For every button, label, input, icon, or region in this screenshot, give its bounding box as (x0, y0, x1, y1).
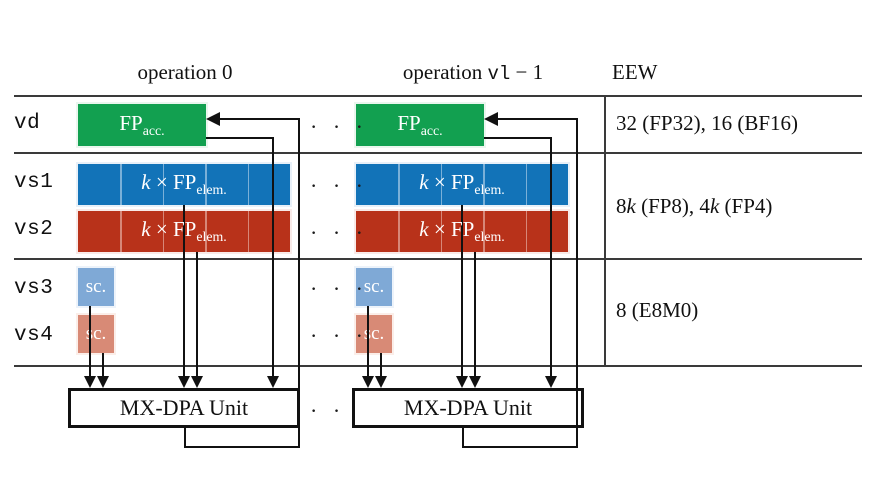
accumulator-box-oplast[interactable]: FPacc. (356, 104, 484, 146)
vs1-op0-label: k × FPelem. (141, 170, 226, 198)
vs1-op0-sep-4 (248, 164, 250, 205)
row-label-vs2: vs2 (14, 219, 53, 240)
scale-box-vs4-op0[interactable]: sc. (78, 315, 114, 353)
arrowhead-feedback-oplast (484, 112, 498, 126)
accumulator-label-oplast: FPacc. (397, 111, 442, 139)
wire-acc-op0-out-v (272, 137, 274, 382)
vs2-oplast-sep-1 (398, 211, 400, 252)
mx-dpa-unit-op0[interactable]: MX-DPA Unit (68, 388, 300, 428)
ellipsis-vs1: · · · (310, 175, 368, 197)
row-label-vd: vd (14, 113, 40, 134)
figure-canvas: operation 0 operation vl − 1 EEW vd vs1 … (0, 0, 876, 493)
arrowhead-vs4-oplast (375, 376, 387, 388)
wire-vs3-oplast-down (367, 306, 369, 382)
arrowhead-vs2-op0 (191, 376, 203, 388)
arrowhead-vs2-oplast (469, 376, 481, 388)
table-rule-bottom (14, 365, 862, 367)
vector-register-vs1-op0[interactable]: k × FPelem. (78, 164, 290, 205)
eew-value-vs12: 8k (FP8), 4k (FP4) (616, 196, 772, 217)
wire-vs2-op0-down (196, 252, 198, 382)
row-label-vs1: vs1 (14, 172, 53, 193)
vs1-op0-sep-1 (120, 164, 122, 205)
vs2-op0-label: k × FPelem. (141, 217, 226, 245)
arrowhead-vs3-op0 (84, 376, 96, 388)
wire-vs2-oplast-down (474, 252, 476, 382)
wire-dpa-op0-feedback-left (218, 118, 300, 120)
arrowhead-vs1-op0 (178, 376, 190, 388)
arrowhead-vs3-oplast (362, 376, 374, 388)
scale-box-vs3-op0[interactable]: sc. (78, 268, 114, 306)
column-header-operation-0: operation 0 (60, 62, 310, 83)
wire-acc-op0-out-h (206, 137, 274, 139)
vs2-oplast-label: k × FPelem. (419, 217, 504, 245)
vector-register-vs1-oplast[interactable]: k × FPelem. (356, 164, 568, 205)
wire-vs3-op0-down (89, 306, 91, 382)
eew-vs12-p1: 8 (616, 194, 627, 218)
row-label-vs3: vs3 (14, 278, 53, 299)
ellipsis-vs4: · · · (310, 325, 368, 347)
eew-column-divider (604, 95, 606, 365)
mx-dpa-unit-oplast[interactable]: MX-DPA Unit (352, 388, 584, 428)
ellipsis-vd: · · · (310, 116, 368, 138)
vs1-oplast-sep-4 (526, 164, 528, 205)
wire-dpa-oplast-feedback-up (576, 118, 578, 446)
wire-dpa-oplast-out-right (462, 446, 578, 448)
table-rule-vs12 (14, 258, 862, 260)
vs2-oplast-sep-4 (526, 211, 528, 252)
eew-vs12-p3: (FP4) (719, 194, 772, 218)
operation-last-suffix: − 1 (510, 60, 543, 84)
eew-vs12-k1: k (627, 194, 636, 218)
accumulator-label-op0: FPacc. (119, 111, 164, 139)
eew-vs12-p2: (FP8), 4 (636, 194, 710, 218)
operation-last-mono: vl (487, 63, 510, 85)
accumulator-box-op0[interactable]: FPacc. (78, 104, 206, 146)
eew-value-vs34: 8 (E8M0) (616, 300, 698, 321)
wire-acc-oplast-out-h (484, 137, 552, 139)
wire-dpa-op0-out-right (184, 446, 300, 448)
eew-vs12-k2: k (710, 194, 719, 218)
column-header-eew: EEW (612, 62, 792, 83)
ellipsis-vs2: · · · (310, 222, 368, 244)
wire-dpa-op0-out-down (184, 428, 186, 448)
column-header-operation-last: operation vl − 1 (348, 62, 598, 84)
arrowhead-feedback-op0 (206, 112, 220, 126)
wire-dpa-oplast-feedback-left (496, 118, 578, 120)
wire-acc-oplast-out-v (550, 137, 552, 382)
vs2-op0-sep-1 (120, 211, 122, 252)
vs2-op0-sep-4 (248, 211, 250, 252)
table-rule-vd (14, 152, 862, 154)
row-label-vs4: vs4 (14, 325, 53, 346)
operation-last-prefix: operation (403, 60, 488, 84)
arrowhead-acc-op0 (267, 376, 279, 388)
vs1-oplast-sep-1 (398, 164, 400, 205)
ellipsis-vs3: · · · (310, 278, 368, 300)
arrowhead-acc-oplast (545, 376, 557, 388)
eew-value-vd: 32 (FP32), 16 (BF16) (616, 113, 798, 134)
wire-dpa-oplast-out-down (462, 428, 464, 448)
arrowhead-vs1-oplast (456, 376, 468, 388)
wire-dpa-op0-feedback-up (298, 118, 300, 446)
table-rule-top (14, 95, 862, 97)
arrowhead-vs4-op0 (97, 376, 109, 388)
vs1-oplast-label: k × FPelem. (419, 170, 504, 198)
